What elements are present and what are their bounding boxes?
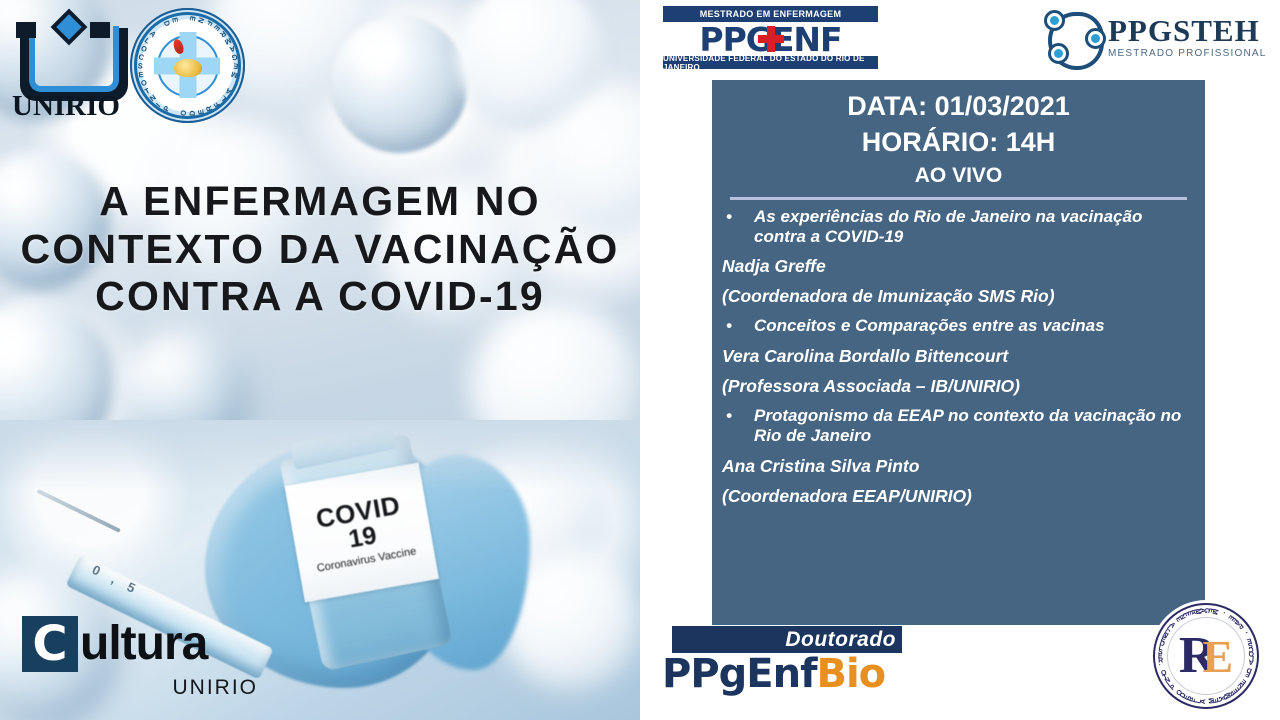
network-node (1085, 28, 1106, 49)
ppgenfbio-top-bar: Doutorado (672, 626, 902, 653)
ppgsteh-logo: PPGSTEH MESTRADO PROFISSIONAL (1042, 6, 1272, 68)
left-promo-panel: COVID 19 Coronavirus Vaccine 0,5 (0, 0, 640, 720)
right-info-panel: MESTRADO EM ENFERMAGEM PPG ENF UNIVERSID… (640, 0, 1280, 720)
seal-ring-text: ESCOLA DE ENFERMAGEM ALFREDO PINTO (130, 8, 245, 123)
seal-ring-char: - (1244, 629, 1249, 636)
page-title: A ENFERMAGEM NO CONTEXTO DA VACINAÇÃO CO… (20, 178, 620, 321)
u-ear-left (16, 22, 36, 38)
bullet-icon: • (722, 316, 754, 336)
program-topic-text: Conceitos e Comparações entre as vacinas (754, 316, 1191, 336)
ppgenf-logo: MESTRADO EM ENFERMAGEM PPG ENF UNIVERSID… (663, 6, 878, 68)
program-list: •As experiências do Rio de Janeiro na va… (712, 207, 1205, 507)
program-topic: •Protagonismo da EEAP no contexto da vac… (722, 406, 1191, 447)
letter-e: E (1202, 631, 1233, 682)
cultura-unirio-logo: C ultura UNIRIO (22, 616, 272, 708)
event-poster: COVID 19 Coronavirus Vaccine 0,5 (0, 0, 1280, 720)
seal-ring-char: O (139, 77, 147, 87)
u-ear-right (90, 22, 110, 38)
cultura-subtitle: UNIRIO (22, 676, 258, 700)
speaker-name: Ana Cristina Silva Pinto (722, 456, 1191, 477)
bullet-icon: • (722, 406, 754, 426)
seal-ring-char: D (187, 110, 196, 115)
seal-ring-char: A (1248, 658, 1254, 666)
seal-ring-char: E (196, 108, 206, 115)
seal-ring-char: M (230, 69, 239, 79)
speaker-affiliation: (Coordenadora EEAP/UNIRIO) (722, 486, 1191, 507)
re-monogram: RE (1179, 630, 1233, 682)
cultura-c-mark: C (22, 616, 78, 672)
unirio-u-mark-icon (12, 14, 116, 90)
seal-ring-char: P (161, 104, 171, 113)
speaker-affiliation: (Coordenadora de Imunização SMS Rio) (722, 286, 1191, 307)
ppgenf-wordmark: PPG ENF (663, 22, 878, 56)
live-badge: AO VIVO (726, 160, 1191, 192)
ppgenfbio-name-left: PPgEnf (662, 651, 816, 697)
event-header: DATA: 01/03/2021 HORÁRIO: 14H AO VIVO (712, 80, 1205, 192)
seal-ring-char: M (1210, 608, 1218, 615)
decorative-sphere (330, 15, 468, 153)
unirio-wordmark: UNIRIO (12, 90, 132, 123)
residencia-enfermagem-seal: RESIDÊNCIA ENFERMAGEM · EEAP - ESCOLA DE… (1150, 600, 1262, 712)
ppgsteh-wordmark: PPGSTEH (1108, 15, 1267, 46)
ppgenfbio-logo: Doutorado PPgEnfBio (662, 626, 912, 704)
eeap-seal-logo: ESCOLA DE ENFERMAGEM ALFREDO PINTO (130, 8, 245, 123)
seal-ring-char: M (1208, 698, 1215, 704)
event-date: DATA: 01/03/2021 (726, 90, 1191, 124)
program-topic-text: As experiências do Rio de Janeiro na vac… (754, 207, 1191, 248)
molecule-network-icon (1042, 8, 1104, 66)
ppgsteh-subtitle: MESTRADO PROFISSIONAL (1108, 48, 1267, 59)
event-time: HORÁRIO: 14H (726, 124, 1191, 160)
bullet-icon: • (722, 207, 754, 227)
event-details-panel: DATA: 01/03/2021 HORÁRIO: 14H AO VIVO •A… (712, 80, 1205, 625)
network-node (1044, 10, 1065, 31)
header-divider (730, 197, 1187, 200)
seal-ring-char: E (170, 16, 180, 23)
red-cross-icon (758, 26, 784, 52)
ppgenfbio-top-label: Doutorado (785, 628, 896, 652)
program-topic: •Conceitos e Comparações entre as vacina… (722, 316, 1191, 336)
seal-ring-char: · (1220, 610, 1227, 615)
photo-top-fade (0, 420, 640, 490)
cultura-word: ultura (80, 620, 207, 668)
seal-ring-char: O (178, 109, 188, 116)
unirio-logo: UNIRIO (12, 14, 122, 124)
seal-ring-char: E (1244, 670, 1251, 678)
ppgsteh-text: PPGSTEH MESTRADO PROFISSIONAL (1108, 15, 1267, 59)
program-topic: •As experiências do Rio de Janeiro na va… (722, 207, 1191, 248)
ppgenfbio-name-right: Bio (816, 651, 885, 697)
speaker-name: Nadja Greffe (722, 256, 1191, 277)
ppgenfbio-wordmark: PPgEnfBio (662, 654, 912, 694)
speaker-affiliation: (Professora Associada – IB/UNIRIO) (722, 376, 1191, 397)
speaker-name: Vera Carolina Bordallo Bittencourt (722, 346, 1191, 367)
program-topic-text: Protagonismo da EEAP no contexto da vaci… (754, 406, 1191, 447)
seal-ring-char: G (231, 52, 238, 61)
cultura-wordmark-row: C ultura (22, 616, 272, 672)
vial-label-line2: 19 (347, 522, 379, 553)
seal-ring-char: A (147, 28, 157, 38)
network-node (1048, 43, 1069, 64)
